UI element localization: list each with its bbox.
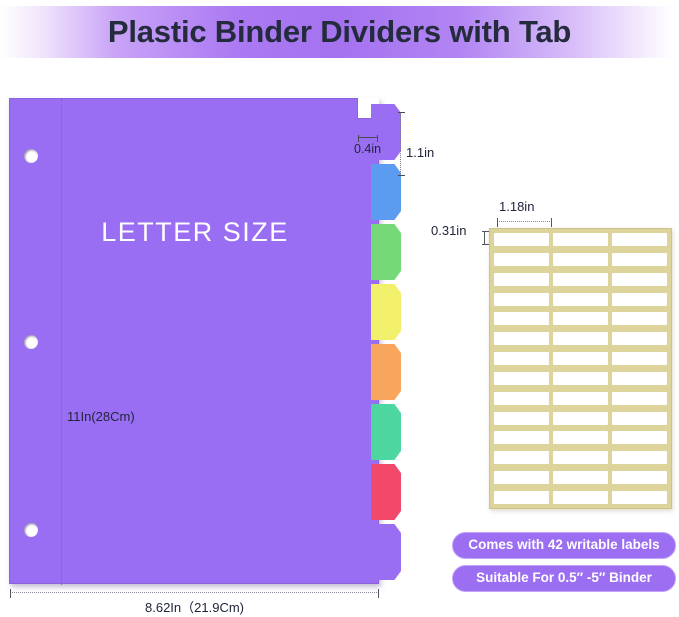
label-cell — [553, 332, 608, 345]
letter-size-label: LETTER SIZE — [10, 217, 380, 248]
label-cell — [494, 412, 549, 425]
label-row — [494, 293, 667, 306]
label-cell — [553, 293, 608, 306]
label-cell — [612, 392, 667, 405]
label-row — [494, 352, 667, 365]
label-row — [494, 451, 667, 464]
label-cell — [553, 253, 608, 266]
label-cell — [612, 372, 667, 385]
tab-red — [371, 464, 401, 520]
label-cell — [612, 471, 667, 484]
label-cell — [494, 392, 549, 405]
label-row — [494, 253, 667, 266]
label-cell — [553, 431, 608, 444]
tab-height-dimension-line — [400, 112, 401, 176]
label-cell — [612, 253, 667, 266]
punch-hole-top — [24, 149, 38, 163]
label-cell — [553, 312, 608, 325]
page-width-dimension-label: 8.62In（21.9Cm) — [10, 597, 379, 616]
tab-teal — [371, 404, 401, 460]
label-cell — [612, 233, 667, 246]
label-cell — [612, 412, 667, 425]
label-cell — [553, 491, 608, 504]
label-height-dimension-label: 0.31in — [431, 223, 466, 238]
tab-width-dimension-line — [358, 137, 378, 138]
tab-width-dimension-label: 0.4in — [354, 142, 381, 156]
label-cell — [553, 273, 608, 286]
label-sheet — [489, 228, 672, 509]
label-row — [494, 372, 667, 385]
label-cell — [612, 431, 667, 444]
label-cell — [553, 352, 608, 365]
page-title: Plastic Binder Dividers with Tab — [0, 6, 679, 58]
label-cell — [494, 332, 549, 345]
label-cell — [612, 273, 667, 286]
label-cell — [553, 372, 608, 385]
divider-tab-stack — [371, 104, 403, 584]
label-height-dimension-bracket — [484, 231, 485, 245]
label-cell — [494, 293, 549, 306]
label-cell — [494, 253, 549, 266]
tab-height-dimension-label: 1.1in — [406, 145, 434, 160]
label-cell — [553, 233, 608, 246]
label-cell — [553, 412, 608, 425]
label-cell — [494, 471, 549, 484]
caption-binder-size: Suitable For 0.5″ -5″ Binder — [452, 565, 676, 592]
label-cell — [612, 293, 667, 306]
label-width-dimension-line — [497, 221, 552, 222]
binder-page: LETTER SIZE 11In(28Cm) — [9, 98, 379, 584]
tab-purple-2 — [371, 524, 401, 580]
label-width-dimension-label: 1.18in — [499, 199, 534, 214]
fold-line — [61, 99, 62, 585]
label-cell — [612, 332, 667, 345]
page-width-dimension-line — [10, 592, 379, 593]
punch-hole-bottom — [24, 523, 38, 537]
label-cell — [612, 352, 667, 365]
label-row — [494, 431, 667, 444]
label-cell — [553, 392, 608, 405]
tab-green — [371, 224, 401, 280]
label-cell — [612, 491, 667, 504]
punch-hole-middle — [24, 335, 38, 349]
page-height-dimension: 11In(28Cm) — [67, 409, 135, 424]
caption-writable-labels: Comes with 42 writable labels — [452, 532, 676, 559]
tab-blue — [371, 164, 401, 220]
label-row — [494, 392, 667, 405]
label-cell — [494, 233, 549, 246]
label-row — [494, 491, 667, 504]
label-cell — [612, 312, 667, 325]
label-row — [494, 233, 667, 246]
label-row — [494, 273, 667, 286]
tab-orange — [371, 344, 401, 400]
label-cell — [553, 451, 608, 464]
tab-yellow — [371, 284, 401, 340]
label-cell — [494, 352, 549, 365]
label-row — [494, 412, 667, 425]
label-row — [494, 332, 667, 345]
label-cell — [612, 451, 667, 464]
label-cell — [494, 491, 549, 504]
label-row — [494, 471, 667, 484]
label-row — [494, 312, 667, 325]
label-cell — [494, 431, 549, 444]
label-cell — [494, 312, 549, 325]
label-cell — [494, 372, 549, 385]
label-cell — [553, 471, 608, 484]
label-cell — [494, 451, 549, 464]
label-cell — [494, 273, 549, 286]
